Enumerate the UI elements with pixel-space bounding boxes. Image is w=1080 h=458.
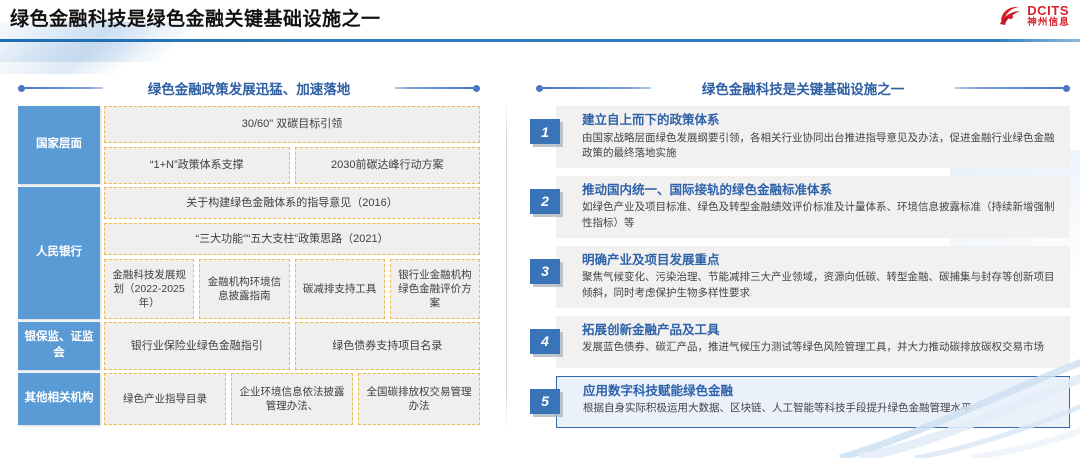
matrix-row-label: 银保监、证监会 — [18, 322, 100, 370]
right-panel-heading-text: 绿色金融科技是关键基础设施之一 — [702, 78, 905, 98]
matrix-cell-line: 金融科技发展规划（2022-2025年） 金融机构环境信息披露指南 碳减排支持工… — [104, 259, 480, 319]
key-point-number: 4 — [530, 329, 560, 354]
line-dot-icon — [395, 85, 480, 92]
left-panel-heading-text: 绿色金融政策发展迅猛、加速落地 — [148, 78, 351, 98]
matrix-cell-line: 银行业保险业绿色金融指引 绿色债券支持项目名录 — [104, 322, 480, 370]
matrix-row-cells: 绿色产业指导目录 企业环境信息依法披露管理办法、 全国碳排放权交易管理办法 — [104, 373, 480, 425]
matrix-row: 其他相关机构 绿色产业指导目录 企业环境信息依法披露管理办法、 全国碳排放权交易… — [18, 373, 480, 425]
key-point-description: 根据自身实际积极运用大数据、区块链、人工智能等科技手段提升绿色金融管理水平 — [583, 401, 1057, 416]
key-point-number: 5 — [530, 389, 560, 414]
key-point-description: 如绿色产业及项目标准、绿色及转型金融绩效评价标准及计量体系、环境信息披露标准（持… — [582, 200, 1058, 230]
matrix-cell-line: “1+N”政策体系支撑 2030前碳达峰行动方案 — [104, 147, 480, 184]
key-point-number: 3 — [530, 259, 560, 284]
dot-line-icon — [18, 85, 103, 92]
matrix-cell[interactable]: 绿色债券支持项目名录 — [295, 322, 481, 370]
key-point-description: 聚焦气候变化、污染治理、节能减排三大产业领域，资源向低碳、转型金融、碳捕集与封存… — [582, 270, 1058, 300]
key-point-number: 1 — [530, 119, 560, 144]
key-point-body: 建立自上而下的政策体系 由国家战略层面绿色发展纲要引领，各相关行业协同出台推进指… — [556, 106, 1070, 168]
dcits-swirl-icon — [998, 5, 1022, 27]
key-point-title: 拓展创新金融产品及工具 — [582, 322, 1058, 340]
key-point-title: 应用数字科技赋能绿色金融 — [583, 383, 1057, 401]
panel-divider — [506, 100, 507, 430]
matrix-cell[interactable]: 金融机构环境信息披露指南 — [199, 259, 289, 319]
matrix-cell[interactable]: 全国碳排放权交易管理办法 — [358, 373, 480, 425]
right-panel-heading: 绿色金融科技是关键基础设施之一 — [536, 78, 1070, 98]
page-title: 绿色金融科技是绿色金融关键基础设施之一 — [10, 4, 381, 31]
key-point-title: 建立自上而下的政策体系 — [582, 112, 1058, 130]
matrix-row: 银保监、证监会 银行业保险业绿色金融指引 绿色债券支持项目名录 — [18, 322, 480, 370]
key-point-number: 2 — [530, 189, 560, 214]
key-point-body: 推动国内统一、国际接轨的绿色金融标准体系 如绿色产业及项目标准、绿色及转型金融绩… — [556, 176, 1070, 238]
matrix-cell[interactable]: 2030前碳达峰行动方案 — [295, 147, 481, 184]
slide-canvas: 绿色金融科技是绿色金融关键基础设施之一 DCITS 神州信息 绿色金融政策发展迅… — [0, 0, 1080, 458]
brand-name-cn: 神州信息 — [1027, 18, 1070, 28]
key-point-title: 明确产业及项目发展重点 — [582, 252, 1058, 270]
brand-name-en: DCITS — [1027, 4, 1070, 17]
key-point-description: 发展蓝色债券、碳汇产品，推进气候压力测试等绿色风险管理工具，并大力推动碳排放碳权… — [582, 340, 1058, 355]
matrix-cell[interactable]: 关于构建绿色金融体系的指导意见（2016） — [104, 187, 480, 219]
matrix-cell[interactable]: 银行业保险业绿色金融指引 — [104, 322, 290, 370]
key-point-item[interactable]: 1 建立自上而下的政策体系 由国家战略层面绿色发展纲要引领，各相关行业协同出台推… — [530, 106, 1070, 168]
key-point-item[interactable]: 2 推动国内统一、国际接轨的绿色金融标准体系 如绿色产业及项目标准、绿色及转型金… — [530, 176, 1070, 238]
key-point-title: 推动国内统一、国际接轨的绿色金融标准体系 — [582, 182, 1058, 200]
key-point-item[interactable]: 4 拓展创新金融产品及工具 发展蓝色债券、碳汇产品，推进气候压力测试等绿色风险管… — [530, 316, 1070, 368]
matrix-cell[interactable]: 金融科技发展规划（2022-2025年） — [104, 259, 194, 319]
line-dot-icon — [955, 85, 1070, 92]
matrix-cell[interactable]: “1+N”政策体系支撑 — [104, 147, 290, 184]
matrix-cell-line: “三大功能”“五大支柱”政策思路（2021） — [104, 223, 480, 255]
key-points-list: 1 建立自上而下的政策体系 由国家战略层面绿色发展纲要引领，各相关行业协同出台推… — [530, 106, 1070, 436]
matrix-cell[interactable]: 30/60" 双碳目标引领 — [104, 106, 480, 143]
matrix-row-cells: 银行业保险业绿色金融指引 绿色债券支持项目名录 — [104, 322, 480, 370]
matrix-cell[interactable]: 企业环境信息依法披露管理办法、 — [231, 373, 353, 425]
key-point-body: 明确产业及项目发展重点 聚焦气候变化、污染治理、节能减排三大产业领域，资源向低碳… — [556, 246, 1070, 308]
key-point-body: 拓展创新金融产品及工具 发展蓝色债券、碳汇产品，推进气候压力测试等绿色风险管理工… — [556, 316, 1070, 368]
matrix-cell-line: 关于构建绿色金融体系的指导意见（2016） — [104, 187, 480, 219]
key-point-item[interactable]: 3 明确产业及项目发展重点 聚焦气候变化、污染治理、节能减排三大产业领域，资源向… — [530, 246, 1070, 308]
title-underline-rule — [0, 39, 1080, 42]
matrix-row-label: 其他相关机构 — [18, 373, 100, 425]
matrix-cell-line: 绿色产业指导目录 企业环境信息依法披露管理办法、 全国碳排放权交易管理办法 — [104, 373, 480, 425]
left-panel-heading: 绿色金融政策发展迅猛、加速落地 — [18, 78, 480, 98]
policy-matrix: 国家层面 30/60" 双碳目标引领 “1+N”政策体系支撑 2030前碳达峰行… — [18, 106, 480, 426]
matrix-row: 人民银行 关于构建绿色金融体系的指导意见（2016） “三大功能”“五大支柱”政… — [18, 187, 480, 319]
key-point-description: 由国家战略层面绿色发展纲要引领，各相关行业协同出台推进指导意见及办法，促进金融行… — [582, 131, 1058, 161]
matrix-row: 国家层面 30/60" 双碳目标引领 “1+N”政策体系支撑 2030前碳达峰行… — [18, 106, 480, 184]
brand-logo: DCITS 神州信息 — [998, 4, 1070, 28]
matrix-cell[interactable]: 绿色产业指导目录 — [104, 373, 226, 425]
matrix-row-label: 国家层面 — [18, 106, 100, 184]
matrix-row-cells: 30/60" 双碳目标引领 “1+N”政策体系支撑 2030前碳达峰行动方案 — [104, 106, 480, 184]
matrix-cell[interactable]: 碳减排支持工具 — [295, 259, 385, 319]
matrix-cell-line: 30/60" 双碳目标引领 — [104, 106, 480, 143]
matrix-row-label: 人民银行 — [18, 187, 100, 319]
matrix-cell[interactable]: 银行业金融机构绿色金融评价方案 — [390, 259, 480, 319]
matrix-cell[interactable]: “三大功能”“五大支柱”政策思路（2021） — [104, 223, 480, 255]
key-point-body: 应用数字科技赋能绿色金融 根据自身实际积极运用大数据、区块链、人工智能等科技手段… — [556, 376, 1070, 428]
dot-line-icon — [536, 85, 651, 92]
brand-wordmark: DCITS 神州信息 — [1027, 4, 1070, 28]
key-point-item-highlighted[interactable]: 5 应用数字科技赋能绿色金融 根据自身实际积极运用大数据、区块链、人工智能等科技… — [530, 376, 1070, 428]
matrix-row-cells: 关于构建绿色金融体系的指导意见（2016） “三大功能”“五大支柱”政策思路（2… — [104, 187, 480, 319]
decorative-swoosh-top-left-secondary — [0, 40, 184, 74]
